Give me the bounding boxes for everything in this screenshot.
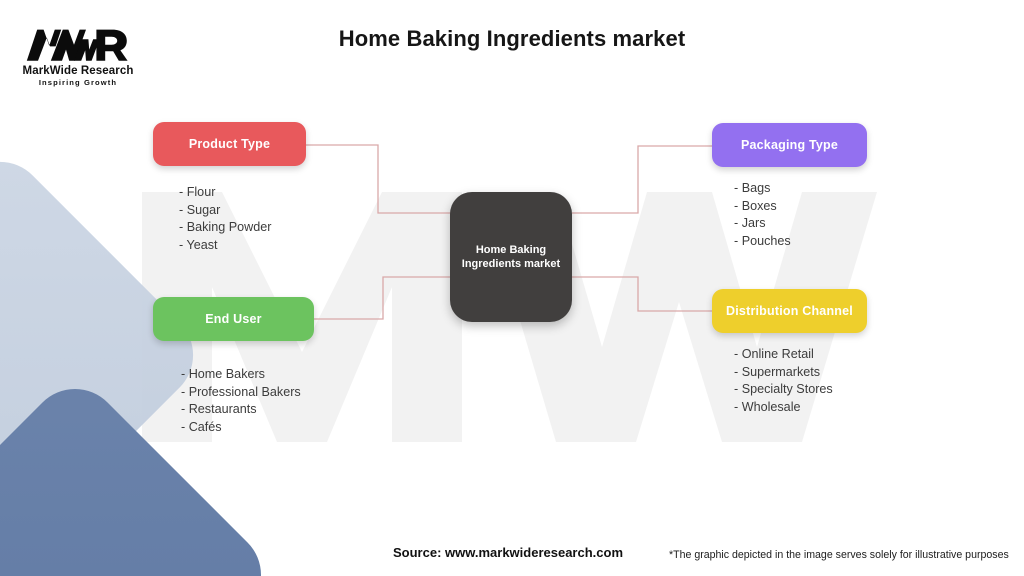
list-item: - Baking Powder [179,219,306,237]
list-item: - Flour [179,184,306,202]
list-item: - Home Bakers [181,366,314,384]
branch-packaging-type[interactable]: Packaging Type - Bags - Boxes - Jars - P… [712,123,867,250]
list-item: - Online Retail [734,346,867,364]
list-item: - Wholesale [734,399,867,417]
center-node-line1: Home Baking [476,244,546,256]
connector-packaging-type [572,146,712,213]
branch-label-packaging-type[interactable]: Packaging Type [712,123,867,167]
branch-title-text: Packaging Type [741,138,838,152]
branch-items-end-user: - Home Bakers - Professional Bakers - Re… [153,366,314,436]
center-node-label: Home Baking Ingredients market [462,243,560,271]
connector-end-user [314,277,452,319]
branch-items-distribution-channel: - Online Retail - Supermarkets - Special… [712,346,867,416]
branch-title-text: End User [205,312,261,326]
branch-end-user[interactable]: End User - Home Bakers - Professional Ba… [153,297,314,436]
list-item: - Cafés [181,419,314,437]
infographic-canvas: MarkWide Research Inspiring Growth Home … [0,0,1024,576]
branch-distribution-channel[interactable]: Distribution Channel - Online Retail - S… [712,289,867,416]
branch-items-packaging-type: - Bags - Boxes - Jars - Pouches [712,180,867,250]
list-item: - Specialty Stores [734,381,867,399]
list-item: - Yeast [179,237,306,255]
branch-product-type[interactable]: Product Type - Flour - Sugar - Baking Po… [153,122,306,254]
list-item: - Sugar [179,202,306,220]
branch-label-product-type[interactable]: Product Type [153,122,306,166]
branch-items-product-type: - Flour - Sugar - Baking Powder - Yeast [153,184,306,254]
list-item: - Boxes [734,198,867,216]
center-node[interactable]: Home Baking Ingredients market [450,192,572,322]
branch-label-end-user[interactable]: End User [153,297,314,341]
list-item: - Bags [734,180,867,198]
disclaimer-text: *The graphic depicted in the image serve… [669,549,1009,561]
source-text: Source: www.markwideresearch.com [393,545,623,560]
connector-distribution-channel [572,277,712,311]
branch-title-text: Distribution Channel [726,304,853,318]
list-item: - Supermarkets [734,364,867,382]
branch-title-text: Product Type [189,137,270,151]
list-item: - Pouches [734,233,867,251]
list-item: - Jars [734,215,867,233]
connector-product-type [306,145,452,213]
center-node-line2: Ingredients market [462,258,560,270]
branch-label-distribution-channel[interactable]: Distribution Channel [712,289,867,333]
list-item: - Professional Bakers [181,384,314,402]
list-item: - Restaurants [181,401,314,419]
